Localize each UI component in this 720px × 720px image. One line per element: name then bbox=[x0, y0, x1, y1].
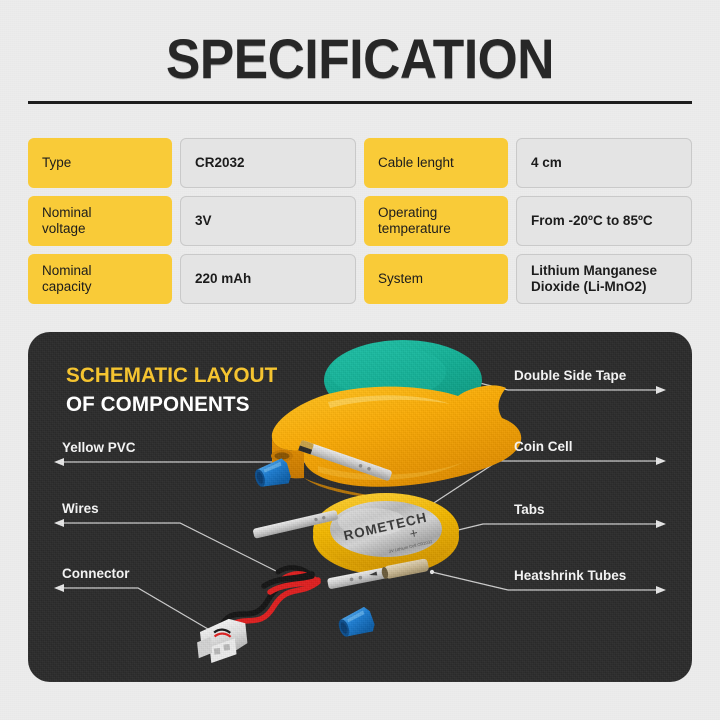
heatshrink-blue-lower bbox=[335, 606, 376, 642]
spec-label-nominal-voltage: Nominalvoltage bbox=[28, 196, 172, 246]
label-heatshrink-tubes: Heatshrink Tubes bbox=[514, 568, 626, 583]
spec-value-system: Lithium Manganese Dioxide (Li-MnO2) bbox=[516, 254, 692, 304]
spec-label-system: System bbox=[364, 254, 508, 304]
page-title: SPECIFICATION bbox=[29, 26, 691, 91]
spec-label-nominal-capacity: Nominalcapacity bbox=[28, 254, 172, 304]
label-wires: Wires bbox=[62, 501, 99, 516]
schematic-title-line1: SCHEMATIC LAYOUT bbox=[66, 361, 277, 390]
coin-cell-art: ROMETECH + 3V Lithium Cell CR2032 bbox=[252, 493, 459, 575]
schematic-panel: ROMETECH + 3V Lithium Cell CR2032 bbox=[28, 332, 692, 682]
label-double-side-tape: Double Side Tape bbox=[514, 368, 626, 383]
specification-table: Type CR2032 Cable lenght 4 cm Nominalvol… bbox=[28, 138, 692, 304]
schematic-title-line2: OF COMPONENTS bbox=[66, 390, 277, 419]
spec-label-operating-temperature: Operatingtemperature bbox=[364, 196, 508, 246]
yellow-pvc-art bbox=[271, 385, 521, 498]
connector-art bbox=[195, 617, 249, 664]
schematic-title: SCHEMATIC LAYOUT OF COMPONENTS bbox=[66, 361, 277, 418]
spec-value-operating-temperature: From -20ºC to 85ºC bbox=[516, 196, 692, 246]
title-divider bbox=[28, 101, 692, 104]
label-coin-cell: Coin Cell bbox=[514, 439, 573, 454]
spec-label-type: Type bbox=[28, 138, 172, 188]
leader-arrowheads-left bbox=[54, 458, 330, 634]
spec-value-type: CR2032 bbox=[180, 138, 356, 188]
header: SPECIFICATION bbox=[0, 0, 720, 112]
spec-value-nominal-voltage: 3V bbox=[180, 196, 356, 246]
spec-value-cable-length: 4 cm bbox=[516, 138, 692, 188]
spec-value-nominal-capacity: 220 mAh bbox=[180, 254, 356, 304]
label-connector: Connector bbox=[62, 566, 130, 581]
label-yellow-pvc: Yellow PVC bbox=[62, 440, 136, 455]
spec-label-cable-length: Cable lenght bbox=[364, 138, 508, 188]
label-tabs: Tabs bbox=[514, 502, 545, 517]
leader-lines-left bbox=[62, 462, 328, 632]
